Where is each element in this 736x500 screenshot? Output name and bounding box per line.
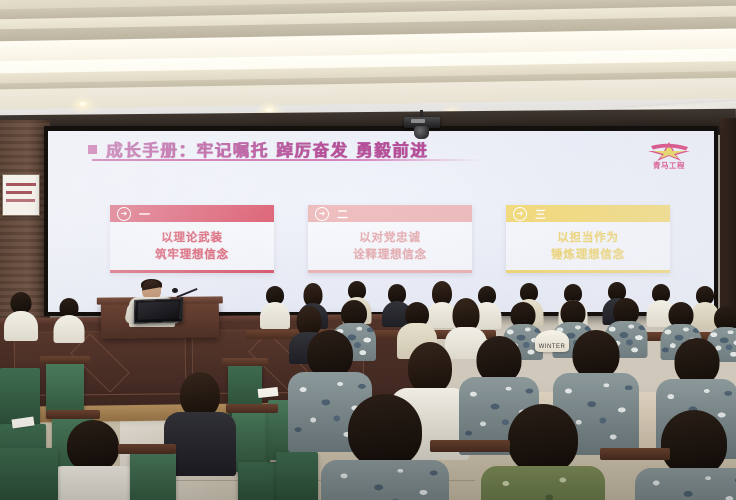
slide-title: 成长手册：牢记嘱托 踔厉奋发 勇毅前进	[106, 137, 428, 161]
bench-back	[118, 444, 176, 454]
circle-arrow-right-icon: ➜	[513, 207, 527, 221]
loyalty-card-number: 二	[337, 206, 349, 222]
title-underline	[92, 159, 482, 161]
white-cap: WINTER	[535, 330, 569, 352]
podium-laptop	[134, 298, 183, 324]
logo-text: 青马工程	[644, 160, 694, 171]
audience-person	[340, 394, 430, 500]
theory-card: ➜ 一 以理论武装 筑牢理想信念	[110, 205, 274, 273]
bench-back	[430, 440, 510, 452]
responsibility-card-line1: 以担当作为	[510, 229, 666, 246]
conference-hall-photo: 成长手册：牢记嘱托 踔厉奋发 勇毅前进 ➜ 一 以理论武装 筑牢理想信念 ➜ 二	[0, 0, 736, 500]
responsibility-card-line2: 锤炼理想信念	[510, 246, 666, 263]
auditorium-seat	[130, 452, 176, 500]
wall-poster	[2, 174, 40, 216]
circle-arrow-right-icon: ➜	[315, 207, 329, 221]
responsibility-card-header: ➜ 三	[506, 205, 670, 222]
audience-person	[500, 404, 586, 500]
square-bullet-icon	[88, 145, 97, 154]
theory-card-number: 一	[139, 206, 151, 222]
right-wall-edge	[720, 118, 736, 328]
theory-card-line1: 以理论武装	[114, 229, 270, 246]
responsibility-card-body: 以担当作为 锤炼理想信念	[506, 222, 670, 270]
theory-card-line2: 筑牢理想信念	[114, 246, 270, 263]
loyalty-card-header: ➜ 二	[308, 205, 472, 222]
auditorium-seat	[276, 452, 318, 500]
slide-cards: ➜ 一 以理论武装 筑牢理想信念 ➜ 二 以对党忠诚 诠释理想信念	[110, 205, 670, 273]
responsibility-card: ➜ 三 以担当作为 锤炼理想信念	[506, 205, 670, 273]
audience-person	[56, 298, 82, 342]
bench-back	[600, 448, 670, 460]
bench-back	[40, 356, 90, 364]
loyalty-card-body: 以对党忠诚 诠释理想信念	[308, 222, 472, 270]
bench-back	[46, 410, 100, 419]
loyalty-card-line2: 诠释理想信念	[312, 246, 468, 263]
loyalty-card: ➜ 二 以对党忠诚 诠释理想信念	[308, 205, 472, 273]
circle-arrow-right-icon: ➜	[117, 207, 131, 221]
program-logo: 青马工程	[638, 141, 700, 175]
projector-lens-icon	[414, 126, 429, 139]
red-star-swoosh-icon	[646, 141, 692, 161]
audience-person	[262, 286, 288, 328]
loyalty-card-line1: 以对党忠诚	[312, 229, 468, 246]
microphone-head-icon	[172, 288, 178, 293]
auditorium-seat	[0, 448, 58, 500]
audience-person	[174, 372, 226, 468]
left-wood-wall	[0, 120, 50, 320]
theory-card-body: 以理论武装 筑牢理想信念	[110, 222, 274, 270]
responsibility-card-number: 三	[535, 206, 547, 222]
cap-text: WINTER	[535, 344, 569, 350]
audience-person	[6, 292, 36, 338]
downlight-icon	[78, 101, 87, 107]
bench-back	[222, 358, 268, 366]
bench-back	[226, 404, 278, 413]
audience-person	[60, 420, 126, 500]
slide-title-row: 成长手册：牢记嘱托 踔厉奋发 勇毅前进	[88, 137, 428, 161]
theory-card-header: ➜ 一	[110, 205, 274, 222]
